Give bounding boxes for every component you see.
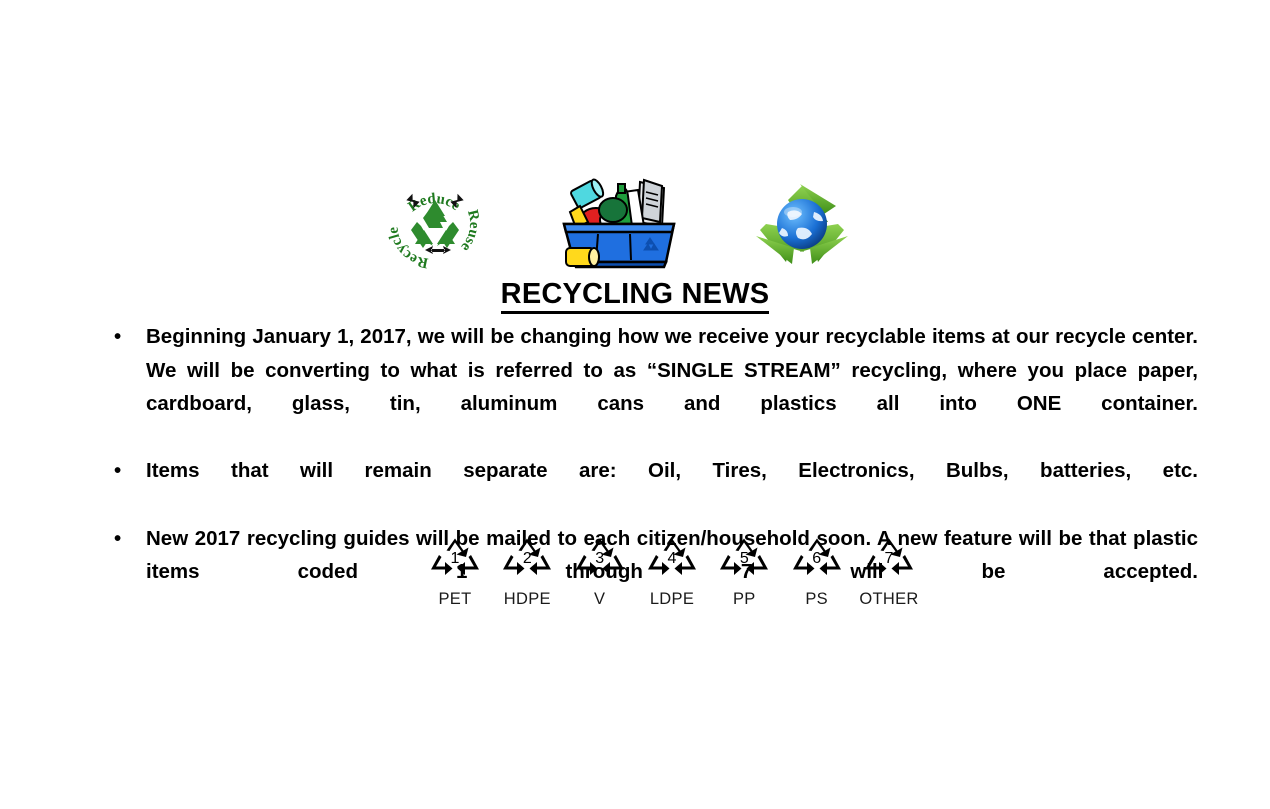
resin-code-label: HDPE xyxy=(504,590,551,609)
svg-text:Reuse: Reuse xyxy=(457,208,482,255)
list-item-text: Items that will remain separate are: Oil… xyxy=(146,454,1198,521)
bullet-glyph: • xyxy=(114,522,121,556)
page-title-text: RECYCLING NEWS xyxy=(501,278,770,314)
resin-code-1: 1 PET xyxy=(424,538,486,609)
bullet-glyph: • xyxy=(114,454,121,488)
list-item: • Items that will remain separate are: O… xyxy=(112,454,1198,521)
resin-code-7: 7 OTHER xyxy=(858,538,920,609)
mobius-loop-icon: 6 xyxy=(788,538,846,588)
list-item: • Beginning January 1, 2017, we will be … xyxy=(112,320,1198,454)
mobius-loop-icon: 5 xyxy=(715,538,773,588)
bullet-glyph: • xyxy=(114,320,121,354)
mobius-loop-icon: 1 xyxy=(426,538,484,588)
resin-code-number: 6 xyxy=(788,551,846,567)
resin-code-label: PP xyxy=(733,590,756,609)
resin-code-number: 5 xyxy=(715,551,773,567)
resin-code-number: 4 xyxy=(643,551,701,567)
resin-code-label: V xyxy=(594,590,605,609)
reduce-reuse-recycle-logo-icon: Reduce Reuse Recycle xyxy=(385,172,485,272)
resin-code-6: 6 PS xyxy=(786,538,848,609)
header-image-strip: Reduce Reuse Recycle xyxy=(0,168,1270,278)
resin-code-number: 2 xyxy=(498,551,556,567)
resin-code-row: 1 PET 2 HDPE 3 xyxy=(424,538,920,609)
mobius-loop-icon: 3 xyxy=(571,538,629,588)
resin-code-4: 4 LDPE xyxy=(641,538,703,609)
list-item-text: Beginning January 1, 2017, we will be ch… xyxy=(146,320,1198,454)
resin-code-label: PS xyxy=(805,590,828,609)
resin-code-number: 7 xyxy=(860,551,918,567)
recycling-bin-icon xyxy=(558,174,680,274)
resin-code-label: PET xyxy=(439,590,472,609)
mobius-loop-icon: 2 xyxy=(498,538,556,588)
mobius-loop-icon: 4 xyxy=(643,538,701,588)
resin-code-2: 2 HDPE xyxy=(496,538,558,609)
resin-code-label: LDPE xyxy=(650,590,694,609)
page-title: RECYCLING NEWS xyxy=(0,278,1270,311)
resin-code-5: 5 PP xyxy=(713,538,775,609)
resin-code-label: OTHER xyxy=(859,590,918,609)
globe-recycle-icon: · · · · ·· · · xyxy=(740,170,865,275)
resin-code-number: 1 xyxy=(426,551,484,567)
resin-code-number: 3 xyxy=(571,551,629,567)
resin-code-3: 3 V xyxy=(569,538,631,609)
mobius-loop-icon: 7 xyxy=(860,538,918,588)
